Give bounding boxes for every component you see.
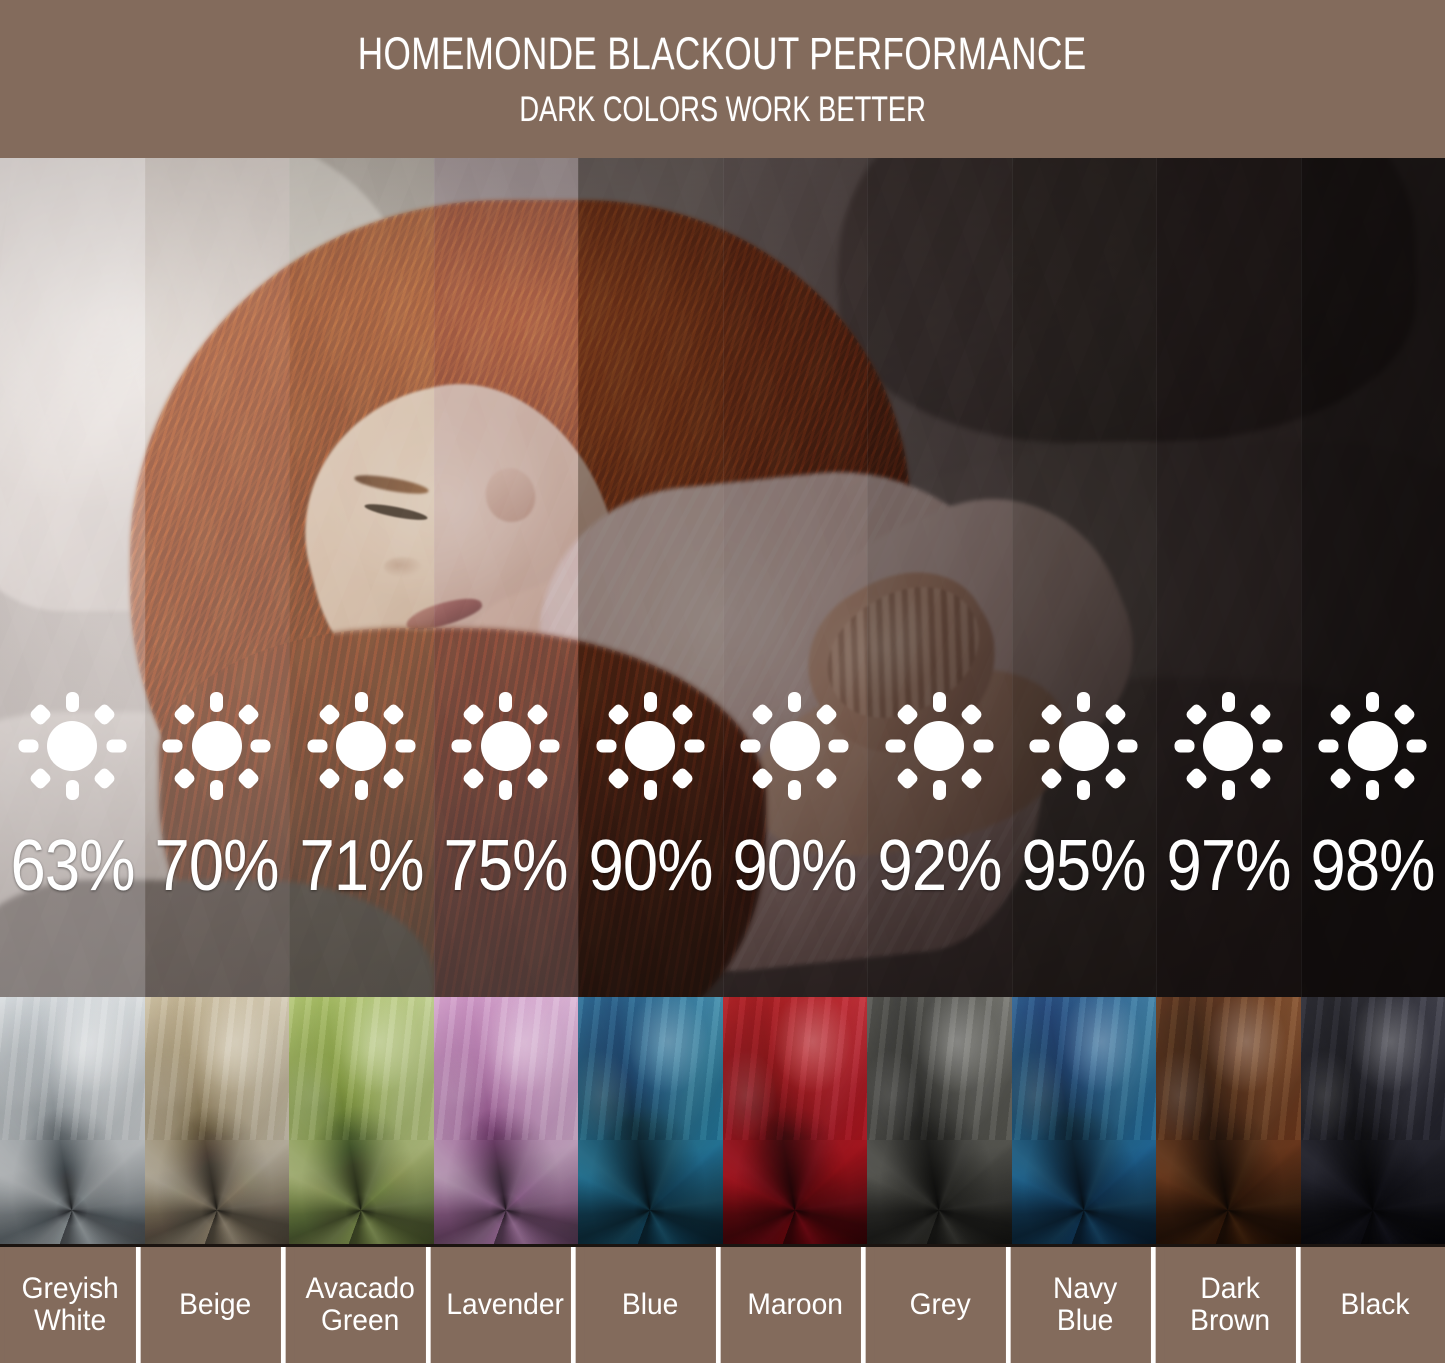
page-subtitle: DARK COLORS WORK BETTER — [519, 92, 926, 127]
sun-icon — [303, 688, 419, 804]
fabric-swatch[interactable] — [145, 997, 290, 1244]
fabric-swatch[interactable] — [578, 997, 723, 1244]
blackout-meter: 97% — [1156, 688, 1301, 997]
blackout-meter: 98% — [1301, 688, 1445, 997]
color-label-avacado-green[interactable]: AvacadoGreen — [294, 1247, 430, 1363]
sun-icon — [1315, 688, 1431, 804]
color-label-row: GreyishWhite Beige AvacadoGreen Lavender… — [0, 1244, 1445, 1363]
label-line-2: Brown — [1190, 1305, 1270, 1337]
label-line-1: Blue — [622, 1289, 678, 1321]
blackout-meter: 95% — [1012, 688, 1157, 997]
blackout-meter: 75% — [434, 688, 579, 997]
blackout-meter: 90% — [578, 688, 723, 997]
blackout-meter: 70% — [145, 688, 290, 997]
percent-value: 92% — [877, 830, 1001, 902]
percent-value: 70% — [155, 830, 279, 902]
fabric-swatch[interactable] — [0, 997, 145, 1244]
fabric-swatch[interactable] — [1156, 997, 1301, 1244]
fabric-swatch[interactable] — [1012, 997, 1157, 1244]
fabric-swatch[interactable] — [434, 997, 579, 1244]
percent-value: 95% — [1022, 830, 1146, 902]
color-label-beige[interactable]: Beige — [149, 1247, 285, 1363]
sun-icon — [1170, 688, 1286, 804]
fabric-swatch[interactable] — [289, 997, 434, 1244]
page-title: HOMEMONDE BLACKOUT PERFORMANCE — [358, 31, 1087, 76]
percent-value: 97% — [1166, 830, 1290, 902]
header-banner: HOMEMONDE BLACKOUT PERFORMANCE DARK COLO… — [0, 0, 1445, 158]
label-line-1: Greyish — [22, 1273, 119, 1305]
sun-icon — [592, 688, 708, 804]
color-label-lavender[interactable]: Lavender — [439, 1247, 575, 1363]
label-line-2: White — [22, 1305, 119, 1337]
blackout-meter: 63% — [0, 688, 145, 997]
sun-icon — [14, 688, 130, 804]
sun-icon — [159, 688, 275, 804]
blackout-meter: 71% — [289, 688, 434, 997]
blackout-meter-row: 63% 70% 71% — [0, 688, 1445, 997]
sun-icon — [737, 688, 853, 804]
sun-icon — [881, 688, 997, 804]
label-line-1: Dark — [1190, 1273, 1270, 1305]
percent-value: 63% — [10, 830, 134, 902]
color-label-greyish-white[interactable]: GreyishWhite — [4, 1247, 140, 1363]
sun-icon — [448, 688, 564, 804]
color-label-grey[interactable]: Grey — [874, 1247, 1010, 1363]
percent-value: 90% — [588, 830, 712, 902]
label-line-1: Grey — [910, 1289, 971, 1321]
blackout-meter: 90% — [723, 688, 868, 997]
color-label-blue[interactable]: Blue — [584, 1247, 720, 1363]
color-label-maroon[interactable]: Maroon — [729, 1247, 865, 1363]
label-line-1: Maroon — [747, 1289, 843, 1321]
label-line-1: Navy Blue — [1023, 1273, 1147, 1337]
label-line-1: Avacado — [306, 1273, 415, 1305]
percent-value: 90% — [733, 830, 857, 902]
fabric-swatch[interactable] — [723, 997, 868, 1244]
fabric-swatch[interactable] — [867, 997, 1012, 1244]
color-label-dark-brown[interactable]: DarkBrown — [1164, 1247, 1300, 1363]
percent-value: 75% — [444, 830, 568, 902]
label-line-1: Black — [1341, 1289, 1410, 1321]
sun-icon — [1026, 688, 1142, 804]
percent-value: 98% — [1311, 830, 1435, 902]
color-label-black[interactable]: Black — [1309, 1247, 1441, 1363]
hero-photo-stage: 63% 70% 71% — [0, 158, 1445, 997]
fabric-swatch[interactable] — [1301, 997, 1445, 1244]
percent-value: 71% — [299, 830, 423, 902]
label-line-1: Beige — [179, 1289, 251, 1321]
label-line-2: Green — [306, 1305, 415, 1337]
label-line-1: Lavender — [446, 1289, 564, 1321]
fabric-swatch-row — [0, 997, 1445, 1244]
blackout-meter: 92% — [867, 688, 1012, 997]
color-label-navy-blue[interactable]: Navy Blue — [1019, 1247, 1155, 1363]
